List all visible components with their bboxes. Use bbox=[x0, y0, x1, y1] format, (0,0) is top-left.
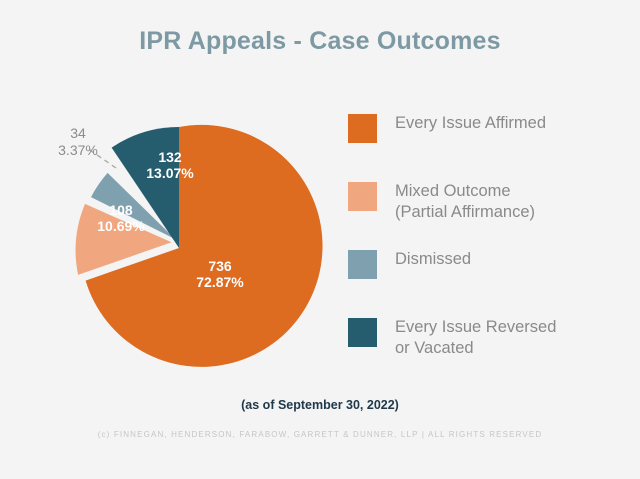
legend-swatch-icon bbox=[348, 250, 377, 279]
legend-swatch-icon bbox=[348, 114, 377, 143]
chart-footnote: (as of September 30, 2022) bbox=[0, 398, 640, 412]
legend-item-dismissed[interactable]: Dismissed bbox=[348, 248, 618, 294]
slice-percent: 3.37% bbox=[38, 142, 118, 159]
legend-item-every-issue-reversed[interactable]: Every Issue Reversed or Vacated bbox=[348, 316, 618, 362]
slice-label-dismissed: 34 3.37% bbox=[38, 125, 118, 158]
chart-canvas: IPR Appeals - Case Outcomes 736 72.87% 1… bbox=[0, 0, 640, 479]
legend-item-label: Mixed Outcome (Partial Affirmance) bbox=[395, 180, 535, 223]
slice-value: 34 bbox=[38, 125, 118, 142]
legend-item-label: Every Issue Reversed or Vacated bbox=[395, 316, 556, 359]
legend-item-mixed-outcome[interactable]: Mixed Outcome (Partial Affirmance) bbox=[348, 180, 618, 226]
page-title: IPR Appeals - Case Outcomes bbox=[0, 27, 640, 56]
legend-swatch-icon bbox=[348, 318, 377, 347]
legend-item-every-issue-affirmed[interactable]: Every Issue Affirmed bbox=[348, 112, 618, 158]
chart-legend: Every Issue Affirmed Mixed Outcome (Part… bbox=[348, 112, 618, 384]
copyright-notice: (c) FINNEGAN, HENDERSON, FARABOW, GARRET… bbox=[0, 430, 640, 439]
legend-swatch-icon bbox=[348, 182, 377, 211]
legend-item-label: Dismissed bbox=[395, 248, 471, 270]
legend-item-label: Every Issue Affirmed bbox=[395, 112, 546, 134]
pie-chart: 736 72.87% 108 10.69% 132 13.07% 34 3.37… bbox=[30, 95, 340, 385]
